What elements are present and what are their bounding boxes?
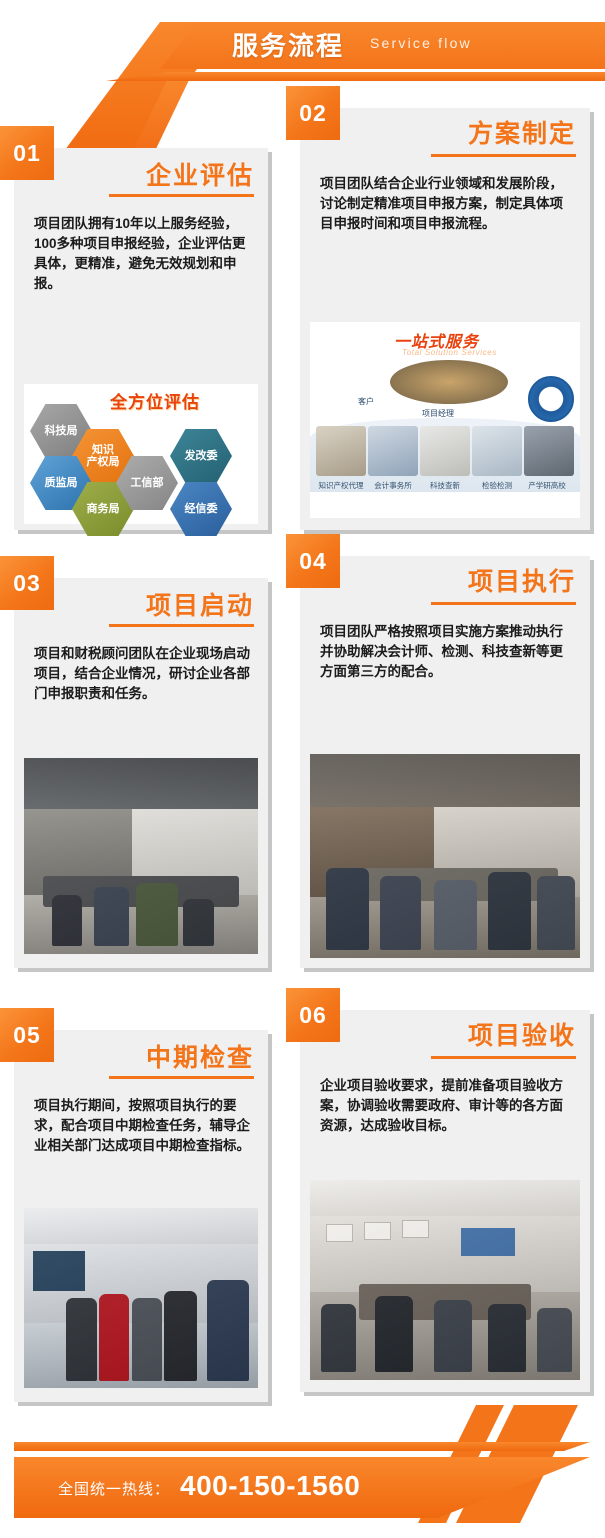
one-stop-item-university [524,426,574,476]
step-card-03: 03 项目启动 项目和财税顾问团队在企业现场启动项目，结合企业情况，研讨企业各部… [14,578,268,968]
step-card-04: 04 项目执行 项目团队严格按照项目实施方案推动执行并协助解决会计师、检测、科技… [300,556,590,968]
hex-diagram-title: 全方位评估 [110,388,200,413]
card-header: 04 项目执行 [300,556,590,622]
page-title-subtitle: Service flow [370,35,472,51]
scene-tint [24,758,258,954]
one-stop-caption-accounting: 会计事务所 [364,480,422,491]
step-number-badge: 05 [0,1008,54,1062]
card-header: 03 项目启动 [14,578,268,644]
title-underline [109,1076,254,1079]
one-stop-label-client: 客户 [358,396,374,407]
step-description: 项目团队严格按照项目实施方案推动执行并协助解决会计师、检测、科技查新等更方面第三… [300,622,590,682]
footer-rule [14,1442,590,1451]
step-description: 项目团队结合企业行业领域和发展阶段，讨论制定精准项目申报方案，制定具体项目申报时… [300,174,590,234]
page-title: 服务流程 [232,26,344,63]
hotline-label: 全国统一热线： [58,1478,170,1499]
step-title: 企业评估 [146,156,254,192]
hex-node-jingxin: 经信委 [170,482,232,536]
photo-boardroom [310,1180,580,1380]
one-stop-service-diagram: 一站式服务 Total Solution Services 客户 项目经理 知识… [310,322,580,518]
scene-tint [310,1180,580,1380]
step-title: 中期检查 [146,1038,254,1074]
step-card-01: 01 企业评估 项目团队拥有10年以上服务经验，100多种项目申报经验，企业评估… [14,148,268,530]
step-title: 项目执行 [468,562,576,598]
one-stop-item-ip [316,426,366,476]
one-stop-item-search [420,426,470,476]
photo-site-visit [24,1208,258,1388]
one-stop-item-testing [472,426,522,476]
step-number-badge: 01 [0,126,54,180]
hex-node-ipr-line1: 知识产权局 [87,444,120,469]
card-header: 01 企业评估 [14,148,268,214]
photo-scene [24,1208,258,1388]
card-header: 06 项目验收 [300,1010,590,1076]
title-underline [431,1056,576,1059]
iso-seal-icon [528,376,574,422]
step-card-06: 06 项目验收 企业项目验收要求，提前准备项目验收方案，协调验收需要政府、审计等… [300,1010,590,1392]
photo-conference-room [24,758,258,954]
step-title: 项目启动 [146,586,254,622]
header-underline-rule [106,72,605,81]
step-description: 项目团队拥有10年以上服务经验，100多种项目申报经验，企业评估更具体，更精准，… [14,214,268,294]
step-title: 项目验收 [468,1016,576,1052]
hex-assessment-diagram: 全方位评估 科技局 知识产权局 质监局 商务局 工信部 发改委 经信委 [24,384,258,524]
one-stop-label-manager: 项目经理 [422,408,454,419]
step-card-05: 05 中期检查 项目执行期间，按照项目执行的要求，配合项目中期检查任务，辅导企业… [14,1030,268,1402]
step-number-badge: 02 [286,86,340,140]
hotline-number[interactable]: 400-150-1560 [180,1470,360,1502]
scene-tint [310,754,580,958]
step-description: 项目和财税顾问团队在企业现场启动项目，结合企业情况，研讨企业各部门申报职责和任务… [14,644,268,704]
title-underline [109,624,254,627]
card-header: 05 中期检查 [14,1030,268,1096]
hex-node-fagai: 发改委 [170,429,232,483]
one-stop-caption-ip: 知识产权代理 [312,480,370,491]
step-description: 项目执行期间，按照项目执行的要求，配合项目中期检查任务，辅导企业相关部门达成项目… [14,1096,268,1156]
scene-tint [24,1208,258,1388]
one-stop-hub-photo [390,360,508,404]
title-underline [109,194,254,197]
photo-scene [310,754,580,958]
step-description: 企业项目验收要求，提前准备项目验收方案，协调验收需要政府、审计等的各方面资源，达… [300,1076,590,1136]
step-number-badge: 06 [286,988,340,1042]
one-stop-item-accounting [368,426,418,476]
photo-meeting-table [310,754,580,958]
one-stop-caption-university: 产学研高校 [518,480,576,491]
title-underline [431,154,576,157]
step-title: 方案制定 [468,114,576,150]
step-number-badge: 04 [286,534,340,588]
service-flow-infographic: 服务流程 Service flow 01 企业评估 项目团队拥有10年以上服务经… [0,0,605,1538]
card-header: 02 方案制定 [300,108,590,174]
step-card-02: 02 方案制定 项目团队结合企业行业领域和发展阶段，讨论制定精准项目申报方案，制… [300,108,590,530]
one-stop-caption-search: 科技查新 [416,480,474,491]
title-underline [431,602,576,605]
photo-scene [310,1180,580,1380]
one-stop-subtitle: Total Solution Services [402,348,497,357]
photo-scene [24,758,258,954]
step-number-badge: 03 [0,556,54,610]
